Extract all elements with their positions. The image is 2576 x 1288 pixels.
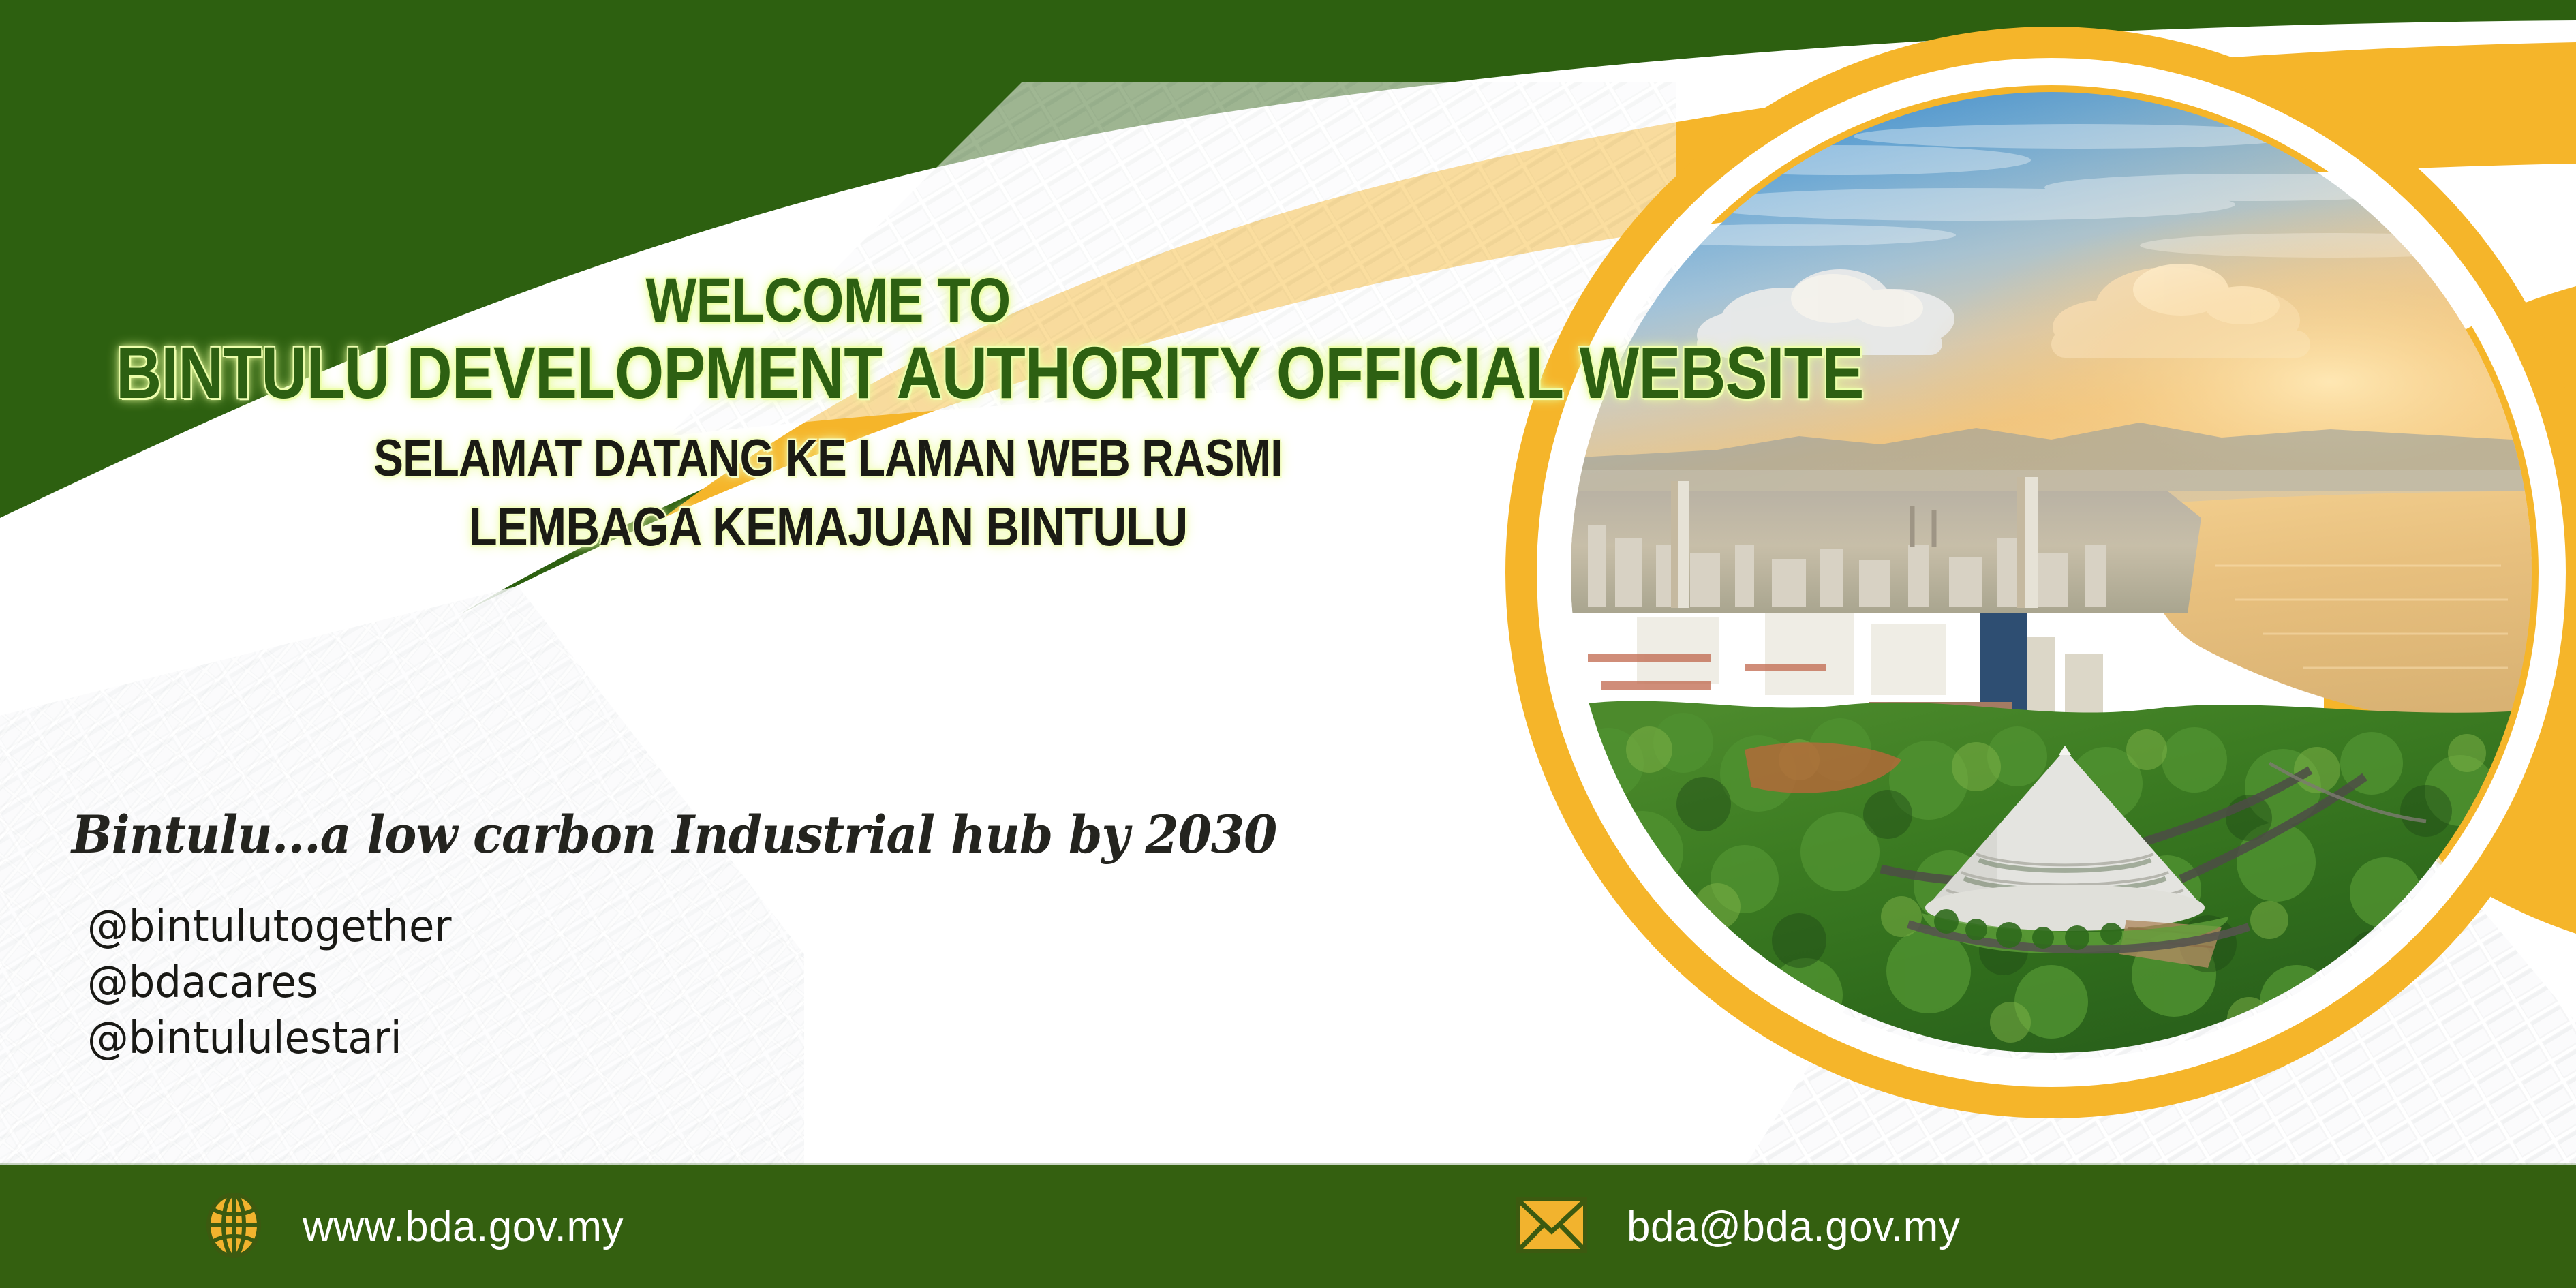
email-label[interactable]: bda@bda.gov.my <box>1627 1203 1960 1251</box>
contact-footer-bar: www.bda.gov.my bda@bda.gov.my <box>0 1165 2576 1288</box>
envelope-icon <box>1516 1197 1587 1257</box>
website-label[interactable]: www.bda.gov.my <box>303 1203 624 1251</box>
website-contact[interactable]: www.bda.gov.my <box>204 1192 624 1262</box>
bda-welcome-banner: WELCOME TO BINTULU DEVELOPMENT AUTHORITY… <box>0 0 2576 1288</box>
globe-icon <box>204 1192 263 1262</box>
email-contact[interactable]: bda@bda.gov.my <box>1516 1197 1960 1257</box>
banner-artwork <box>0 0 2576 1288</box>
